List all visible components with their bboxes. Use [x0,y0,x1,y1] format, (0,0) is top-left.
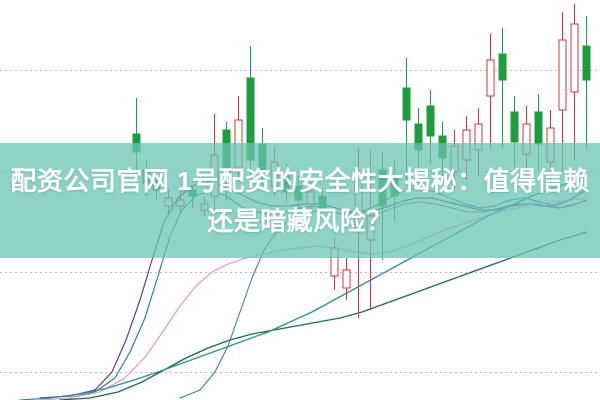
stock-chart-banner: 配资公司官网 1号配资的安全性大揭秘：值得信赖 还是暗藏风险？ [0,0,600,400]
candle-body [571,24,578,92]
candle-body [499,54,506,80]
candle-body [427,106,434,136]
candle-body [487,60,494,96]
candle-body [343,270,350,288]
candle-body [535,112,542,144]
candle-body [559,40,566,110]
title-overlay-band: 配资公司官网 1号配资的安全性大揭秘：值得信赖 还是暗藏风险？ [0,143,600,258]
candle-body [583,46,590,80]
title-line-2: 还是暗藏风险？ [0,201,600,241]
candle-body [511,112,518,142]
candle-body [403,88,410,120]
title-line-1: 配资公司官网 1号配资的安全性大揭秘：值得信赖 [0,161,600,201]
